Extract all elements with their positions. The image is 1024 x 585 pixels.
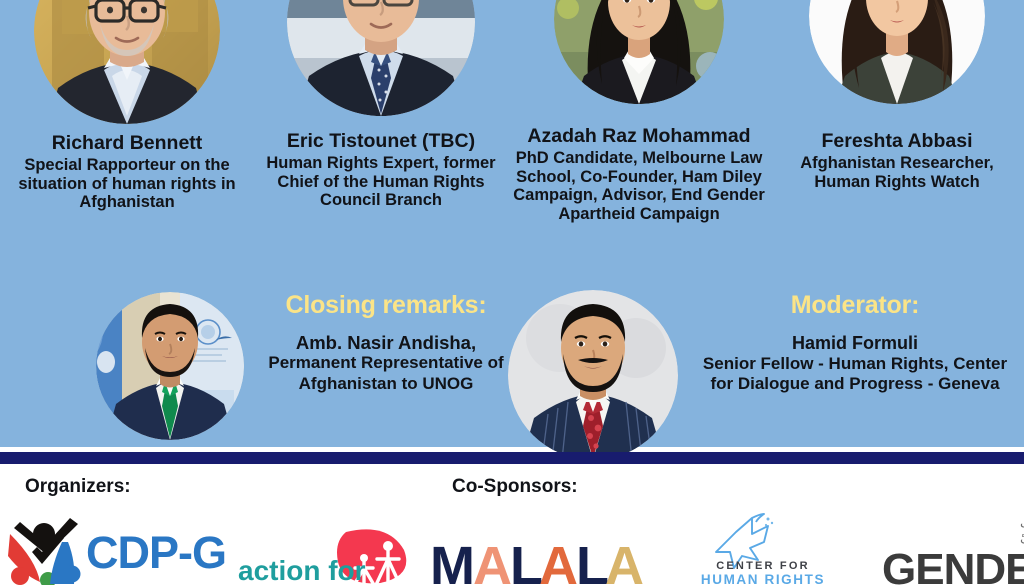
speaker-name: Azadah Raz Mohammad (527, 126, 750, 148)
portrait-fereshta-abbasi (809, 0, 985, 104)
svg-text:M: M (430, 540, 475, 585)
svg-text:A: A (539, 540, 578, 585)
organizers-label: Organizers: (25, 476, 131, 498)
speaker-name: Richard Bennett (52, 133, 203, 155)
svg-text:A: A (473, 540, 512, 585)
svg-text:نه‌به‌آپارتاید جنسیتی: نه‌به‌آپارتاید جنسیتی (1020, 513, 1024, 530)
moderator-card: Moderator: Hamid Formuli Senior Fellow -… (508, 284, 1020, 460)
svg-text:جنسیتي اپارتاید ختم کړئ: جنسیتي اپارتاید ختم کړئ (1020, 531, 1024, 546)
cosponsors-label: Co-Sponsors: (452, 476, 578, 498)
portrait-richard-bennett (34, 0, 220, 124)
closing-remarks-name: Amb. Nasir Andisha, (252, 332, 520, 354)
speaker-role: PhD Candidate, Melbourne Law School, Co-… (508, 149, 770, 224)
moderator-heading: Moderator: (690, 292, 1020, 320)
speaker-card-eric-tistounet: Eric Tistounet (TBC) Human Rights Expert… (254, 0, 508, 260)
speaker-card-fereshta-abbasi: Fereshta Abbasi Afghanistan Researcher, … (770, 0, 1024, 260)
cdp-g-logo: CDP-G (6, 516, 236, 585)
closing-and-moderator-row: Closing remarks: Amb. Nasir Andisha, Per… (0, 278, 1024, 443)
svg-text:CDP-G: CDP-G (86, 527, 226, 578)
speaker-row: Richard Bennett Special Rapporteur on th… (0, 0, 1024, 260)
svg-text:GENDER: GENDER (882, 545, 1024, 585)
closing-remarks-card: Closing remarks: Amb. Nasir Andisha, Per… (96, 284, 520, 440)
speaker-role: Afghanistan Researcher, Human Rights Wat… (790, 154, 1005, 192)
closing-remarks-role: Permanent Representative of Afghanistan … (252, 353, 520, 394)
speaker-name: Fereshta Abbasi (822, 131, 973, 153)
action-for-logo: action for (238, 528, 428, 585)
portrait-hamid-formuli (508, 290, 678, 460)
svg-text:A: A (605, 540, 644, 585)
speaker-role: Human Rights Expert, former Chief of the… (257, 154, 505, 210)
center-for-human-rights-logo: CENTER FOR HUMAN RIGHTS (690, 512, 836, 585)
moderator-role: Senior Fellow - Human Rights, Center for… (690, 354, 1020, 395)
speaker-card-richard-bennett: Richard Bennett Special Rapporteur on th… (0, 0, 254, 260)
event-poster: Richard Bennett Special Rapporteur on th… (0, 0, 1024, 585)
portrait-nasir-andisha (96, 292, 244, 440)
speaker-card-azadah-raz-mohammad: Azadah Raz Mohammad PhD Candidate, Melbo… (508, 0, 770, 260)
malala-fund-logo: M A L A L A (430, 540, 655, 585)
svg-text:action for: action for (238, 555, 366, 585)
speaker-name: Eric Tistounet (TBC) (287, 131, 475, 153)
svg-text:HUMAN RIGHTS: HUMAN RIGHTS (701, 572, 825, 585)
svg-text:CENTER FOR: CENTER FOR (716, 560, 810, 572)
speaker-role: Special Rapporteur on the situation of h… (9, 156, 245, 212)
end-gender-apartheid-logo: نه‌به‌آپارتاید جنسیتی جنسیتي اپارتاید خت… (882, 508, 1024, 585)
section-divider (0, 452, 1024, 464)
closing-remarks-heading: Closing remarks: (252, 292, 520, 320)
moderator-name: Hamid Formuli (690, 333, 1020, 354)
portrait-azadah-raz-mohammad (554, 0, 724, 104)
portrait-eric-tistounet (287, 0, 475, 116)
